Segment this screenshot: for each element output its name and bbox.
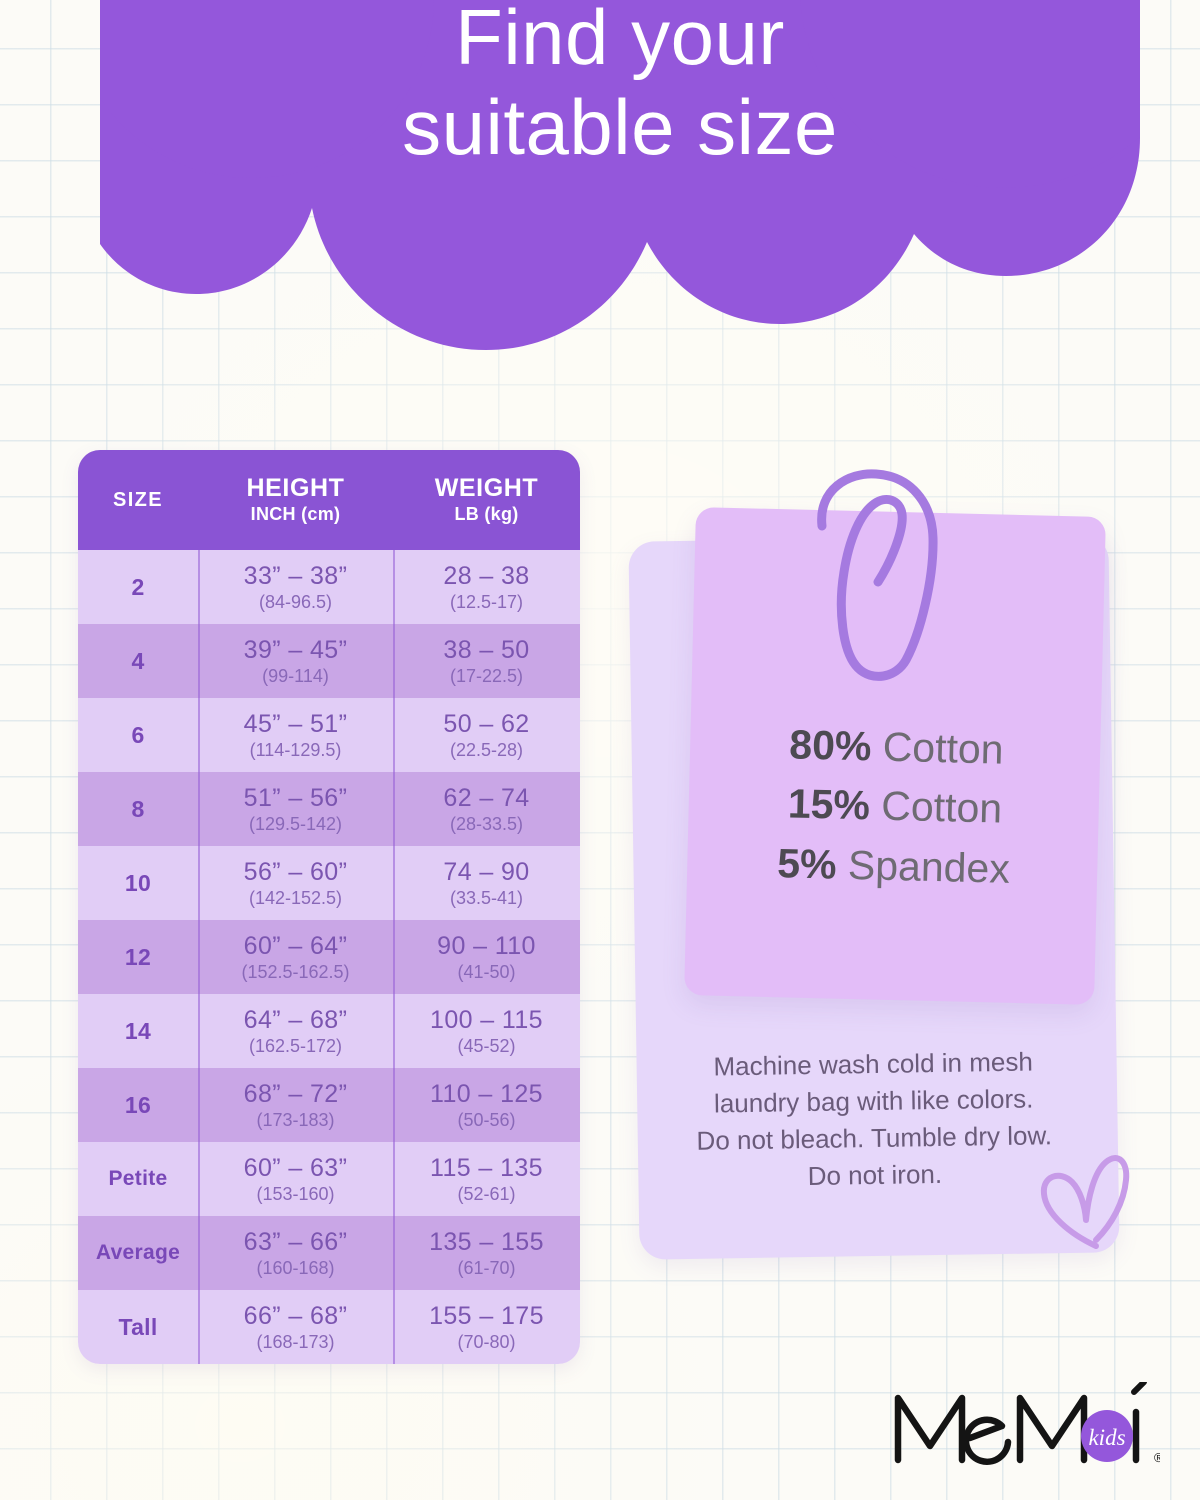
cell-height: 68” – 72”(173-183) <box>198 1068 393 1142</box>
cell-size: 2 <box>78 550 198 624</box>
table-row: 1056” – 60”(142-152.5)74 – 90(33.5-41) <box>78 846 580 920</box>
cell-height: 64” – 68”(162.5-172) <box>198 994 393 1068</box>
weight-lb: 90 – 110 <box>437 932 536 961</box>
cell-size: 4 <box>78 624 198 698</box>
weight-kg: (12.5-17) <box>450 592 523 613</box>
height-cm: (160-168) <box>256 1258 334 1279</box>
composition-material: Cotton <box>881 783 1003 832</box>
table-header-row: SIZE HEIGHT INCH (cm) WEIGHT LB (kg) <box>78 450 580 550</box>
trademark-symbol: ® <box>1154 1450 1160 1465</box>
cell-weight: 90 – 110(41-50) <box>393 920 580 994</box>
cell-weight: 155 – 175(70-80) <box>393 1290 580 1364</box>
cell-height: 56” – 60”(142-152.5) <box>198 846 393 920</box>
table-row: 1668” – 72”(173-183)110 – 125(50-56) <box>78 1068 580 1142</box>
table-row: Average63” – 66”(160-168)135 – 155(61-70… <box>78 1216 580 1290</box>
weight-lb: 155 – 175 <box>429 1302 544 1331</box>
cell-weight: 135 – 155(61-70) <box>393 1216 580 1290</box>
weight-lb: 50 – 62 <box>443 710 529 739</box>
cell-height: 60” – 63”(153-160) <box>198 1142 393 1216</box>
weight-kg: (17-22.5) <box>450 666 523 687</box>
column-header-size: SIZE <box>78 450 198 550</box>
care-instructions: Machine wash cold in mesh laundry bag wi… <box>653 1043 1095 1198</box>
cell-weight: 74 – 90(33.5-41) <box>393 846 580 920</box>
size-label: 10 <box>125 870 151 897</box>
table-row: 645” – 51”(114-129.5)50 – 62(22.5-28) <box>78 698 580 772</box>
cell-size: Average <box>78 1216 198 1290</box>
height-cm: (152.5-162.5) <box>241 962 349 983</box>
table-row: 439” – 45”(99-114)38 – 50(17-22.5) <box>78 624 580 698</box>
page-title: Find your suitable size <box>100 0 1140 173</box>
height-inches: 56” – 60” <box>244 858 348 887</box>
kids-badge-text: kids <box>1088 1425 1125 1450</box>
column-header-height: HEIGHT INCH (cm) <box>198 450 393 550</box>
weight-kg: (28-33.5) <box>450 814 523 835</box>
weight-kg: (22.5-28) <box>450 740 523 761</box>
weight-lb: 115 – 135 <box>430 1154 543 1183</box>
height-inches: 64” – 68” <box>244 1006 348 1035</box>
cell-size: 6 <box>78 698 198 772</box>
weight-lb: 110 – 125 <box>430 1080 543 1109</box>
composition-percent: 15% <box>787 781 870 829</box>
size-label: Tall <box>118 1314 157 1341</box>
height-cm: (99-114) <box>262 666 329 687</box>
cell-height: 39” – 45”(99-114) <box>198 624 393 698</box>
height-cm: (142-152.5) <box>249 888 342 909</box>
column-header-height-sub: INCH (cm) <box>251 504 341 525</box>
weight-kg: (50-56) <box>457 1110 515 1131</box>
column-header-weight: WEIGHT LB (kg) <box>393 450 580 550</box>
paperclip-icon <box>800 468 970 683</box>
weight-kg: (41-50) <box>457 962 515 983</box>
cell-height: 63” – 66”(160-168) <box>198 1216 393 1290</box>
height-inches: 68” – 72” <box>244 1080 348 1109</box>
height-inches: 39” – 45” <box>244 636 348 665</box>
weight-lb: 62 – 74 <box>443 784 529 813</box>
weight-lb: 74 – 90 <box>443 858 529 887</box>
column-header-weight-sub: LB (kg) <box>454 504 518 525</box>
weight-lb: 38 – 50 <box>443 636 529 665</box>
cell-size: Petite <box>78 1142 198 1216</box>
weight-lb: 28 – 38 <box>443 562 529 591</box>
cloud-header: Find your suitable size <box>100 0 1140 378</box>
size-label: 12 <box>125 944 151 971</box>
table-row: 1464” – 68”(162.5-172)100 – 115(45-52) <box>78 994 580 1068</box>
height-cm: (162.5-172) <box>249 1036 342 1057</box>
heart-doodle-icon <box>1030 1148 1140 1258</box>
table-row: 851” – 56”(129.5-142)62 – 74(28-33.5) <box>78 772 580 846</box>
table-body: 233” – 38”(84-96.5)28 – 38(12.5-17)439” … <box>78 550 580 1364</box>
composition-line: 5% Spandex <box>688 832 1099 901</box>
composition-line: 80% Cotton <box>691 713 1102 782</box>
cell-height: 51” – 56”(129.5-142) <box>198 772 393 846</box>
weight-lb: 100 – 115 <box>430 1006 543 1035</box>
height-inches: 33” – 38” <box>244 562 348 591</box>
height-cm: (129.5-142) <box>249 814 342 835</box>
memoi-kids-logo: kids ® <box>890 1382 1160 1474</box>
fabric-composition: 80% Cotton 15% Cotton 5% Spandex <box>688 713 1102 901</box>
size-label: 8 <box>131 796 144 823</box>
cell-height: 60” – 64”(152.5-162.5) <box>198 920 393 994</box>
cell-weight: 38 – 50(17-22.5) <box>393 624 580 698</box>
size-label: 14 <box>125 1018 151 1045</box>
height-inches: 66” – 68” <box>244 1302 348 1331</box>
height-cm: (173-183) <box>256 1110 334 1131</box>
cell-size: Tall <box>78 1290 198 1364</box>
weight-kg: (52-61) <box>457 1184 515 1205</box>
height-cm: (168-173) <box>256 1332 334 1353</box>
size-label: 2 <box>131 574 144 601</box>
cell-weight: 110 – 125(50-56) <box>393 1068 580 1142</box>
cell-weight: 62 – 74(28-33.5) <box>393 772 580 846</box>
cell-weight: 28 – 38(12.5-17) <box>393 550 580 624</box>
height-cm: (153-160) <box>256 1184 334 1205</box>
composition-material: Spandex <box>847 842 1010 892</box>
cell-size: 16 <box>78 1068 198 1142</box>
column-header-height-main: HEIGHT <box>246 475 344 501</box>
height-inches: 60” – 64” <box>244 932 348 961</box>
size-label: Petite <box>109 1167 168 1191</box>
height-cm: (114-129.5) <box>250 740 342 761</box>
cell-height: 33” – 38”(84-96.5) <box>198 550 393 624</box>
composition-percent: 80% <box>789 721 872 769</box>
size-chart-table: SIZE HEIGHT INCH (cm) WEIGHT LB (kg) 233… <box>78 450 580 1364</box>
size-label: Average <box>96 1241 180 1265</box>
weight-kg: (45-52) <box>457 1036 515 1057</box>
cell-weight: 115 – 135(52-61) <box>393 1142 580 1216</box>
height-inches: 60” – 63” <box>244 1154 348 1183</box>
composition-percent: 5% <box>777 840 837 887</box>
weight-kg: (70-80) <box>457 1332 515 1353</box>
weight-kg: (33.5-41) <box>450 888 523 909</box>
cell-size: 14 <box>78 994 198 1068</box>
cell-size: 10 <box>78 846 198 920</box>
cell-size: 12 <box>78 920 198 994</box>
cell-height: 45” – 51”(114-129.5) <box>198 698 393 772</box>
height-inches: 63” – 66” <box>244 1228 348 1257</box>
height-inches: 51” – 56” <box>244 784 348 813</box>
composition-line: 15% Cotton <box>689 772 1100 841</box>
cell-height: 66” – 68”(168-173) <box>198 1290 393 1364</box>
column-header-size-label: SIZE <box>113 489 163 512</box>
cell-weight: 50 – 62(22.5-28) <box>393 698 580 772</box>
table-row: 1260” – 64”(152.5-162.5)90 – 110(41-50) <box>78 920 580 994</box>
table-row: Petite60” – 63”(153-160)115 – 135(52-61) <box>78 1142 580 1216</box>
table-row: 233” – 38”(84-96.5)28 – 38(12.5-17) <box>78 550 580 624</box>
size-label: 16 <box>125 1092 151 1119</box>
composition-material: Cotton <box>882 724 1004 773</box>
size-label: 4 <box>131 648 144 675</box>
height-cm: (84-96.5) <box>259 592 332 613</box>
cell-size: 8 <box>78 772 198 846</box>
weight-lb: 135 – 155 <box>429 1228 544 1257</box>
cell-weight: 100 – 115(45-52) <box>393 994 580 1068</box>
column-header-weight-main: WEIGHT <box>435 475 539 501</box>
table-row: Tall66” – 68”(168-173)155 – 175(70-80) <box>78 1290 580 1364</box>
weight-kg: (61-70) <box>457 1258 515 1279</box>
height-inches: 45” – 51” <box>244 710 348 739</box>
size-label: 6 <box>131 722 144 749</box>
